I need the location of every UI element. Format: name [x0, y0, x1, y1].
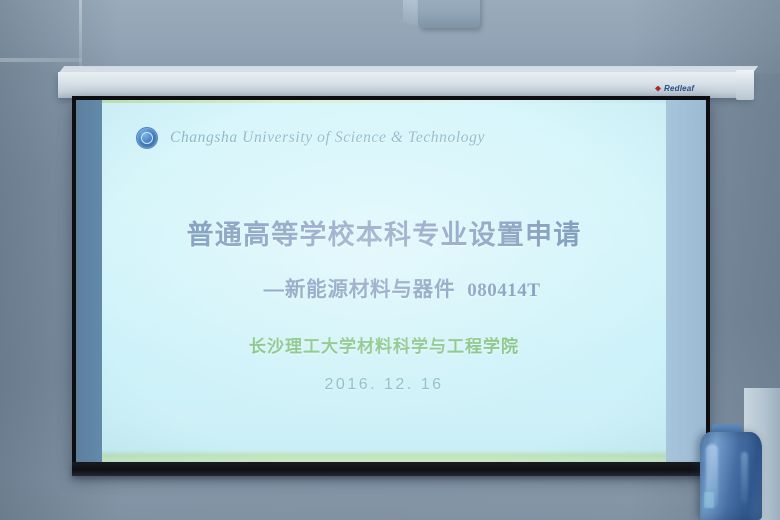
projection-screen-surface: Changsha University of Science & Technol… [76, 100, 706, 462]
screen-roller-end-cap [736, 70, 754, 100]
screen-weight-bar [72, 462, 714, 476]
screen-roller-case [58, 72, 752, 98]
screen-margin-right [666, 100, 706, 462]
roller-brand-label: Redleaf [664, 84, 694, 93]
slide-organization: 长沙理工大学材料科学与工程学院 [102, 332, 666, 357]
slide-date: 2016. 12. 16 [102, 376, 666, 394]
slide-subtitle-text: —新能源材料与器件 [264, 278, 456, 301]
slide-bottom-accent-band [102, 450, 666, 462]
university-name-label: Changsha University of Science & Technol… [170, 129, 485, 147]
water-bottle-highlight-secondary [741, 452, 748, 504]
projected-slide: Changsha University of Science & Technol… [102, 100, 666, 462]
screen-margin-left [76, 100, 102, 462]
slide-top-accent-bar [102, 100, 666, 103]
slide-title-main: 普通高等学校本科专业设置申请 [102, 213, 666, 252]
slide-major-code: 080414T [467, 280, 540, 301]
roller-brand-mark: Redleaf [655, 84, 694, 93]
classroom-scene: Redleaf Changsha University of Science &… [0, 0, 780, 520]
leaf-icon [655, 86, 661, 92]
changsha-university-emblem-icon [136, 127, 158, 149]
slide-subtitle: —新能源材料与器件080414T [102, 272, 666, 302]
ceiling-vent-box [418, 0, 480, 28]
water-bottle-label [704, 492, 714, 508]
slide-header: Changsha University of Science & Technol… [136, 127, 485, 149]
